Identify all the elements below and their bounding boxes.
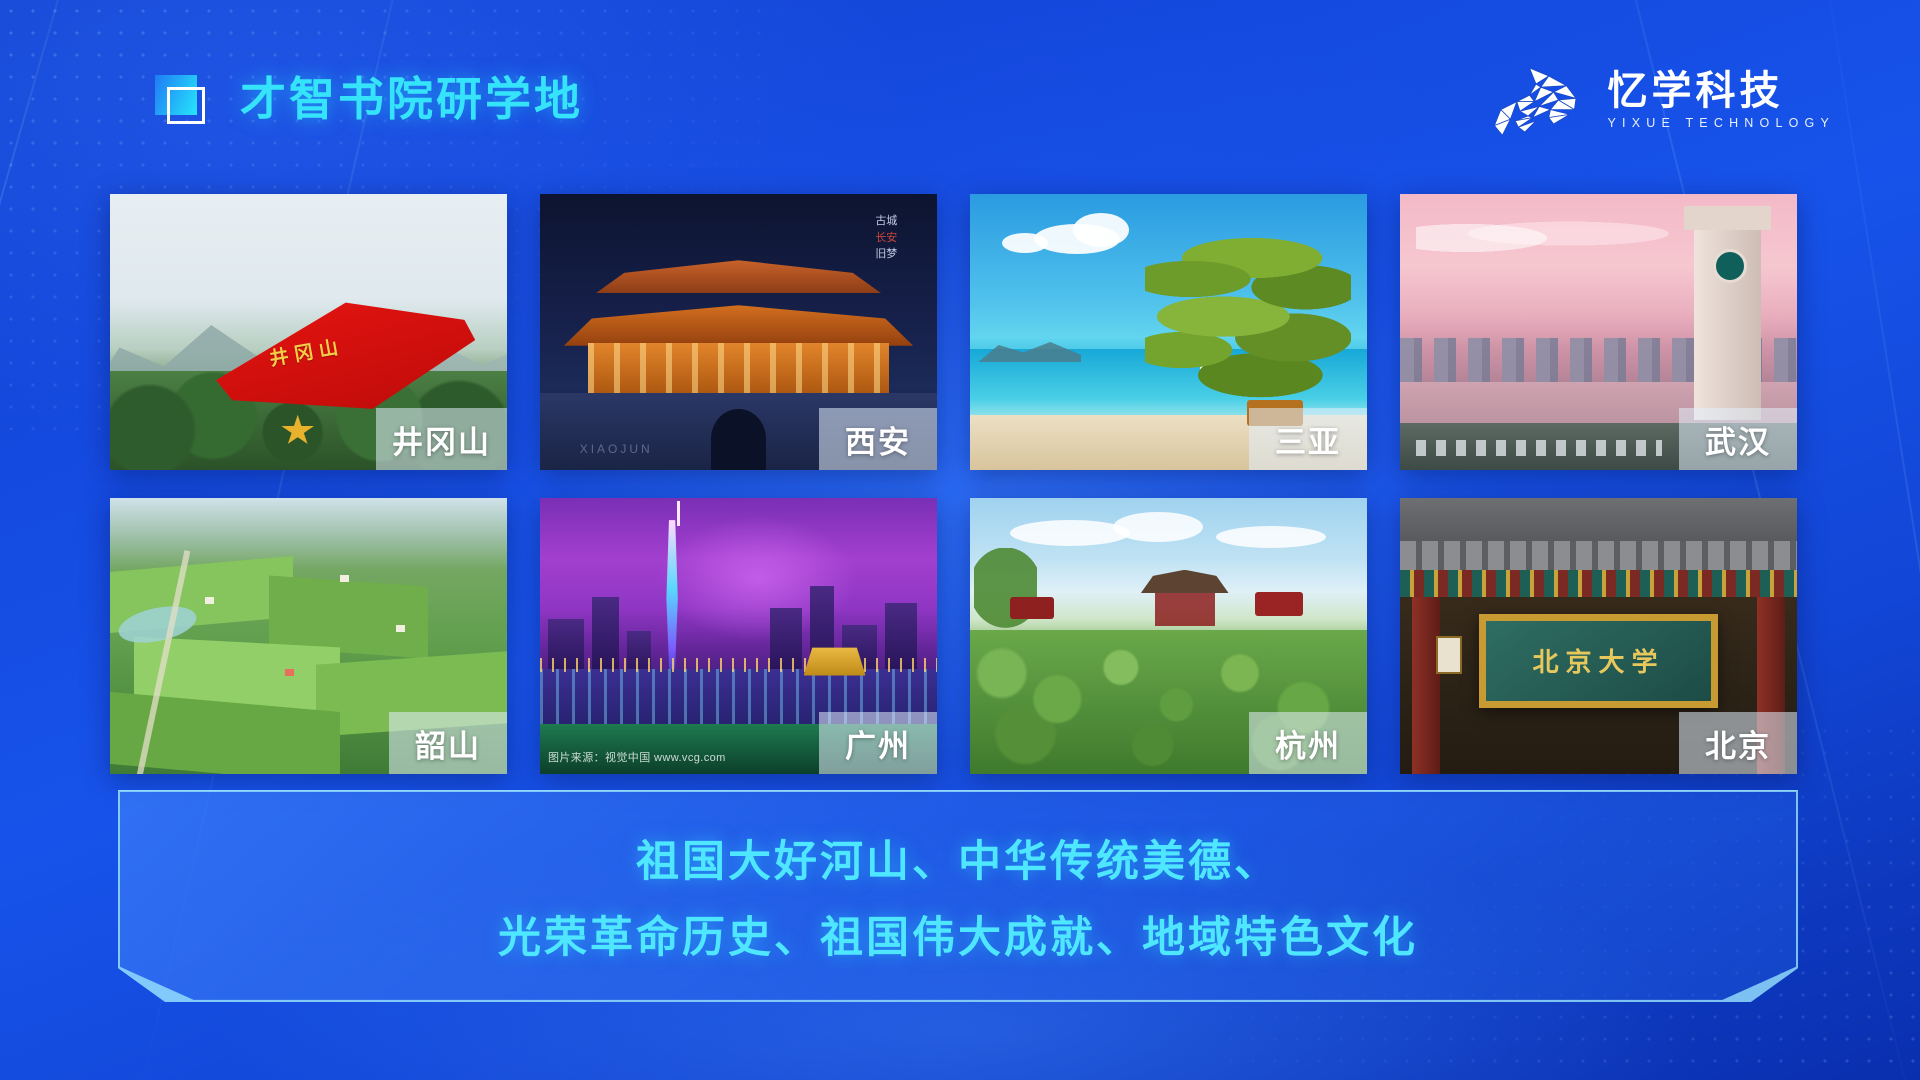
card-label: 井冈山: [376, 408, 507, 470]
destination-card[interactable]: 杭州: [970, 498, 1367, 774]
photo-watermark: XIAOJUN: [580, 442, 653, 456]
destination-card[interactable]: 三亚: [970, 194, 1367, 470]
card-label-text: 韶山: [415, 721, 481, 766]
card-label-text: 杭州: [1275, 721, 1341, 766]
destination-card[interactable]: 井冈山 井冈山: [110, 194, 507, 470]
destination-card[interactable]: 图片来源：视觉中国 www.vcg.com 广州: [540, 498, 937, 774]
destination-card[interactable]: 韶山: [110, 498, 507, 774]
card-label: 武汉: [1679, 408, 1797, 470]
card-label: 杭州: [1249, 712, 1367, 774]
card-label: 西安: [819, 408, 937, 470]
card-label-text: 北京: [1705, 721, 1771, 766]
card-label: 韶山: [389, 712, 507, 774]
destination-card[interactable]: 武汉: [1400, 194, 1797, 470]
card-label-text: 三亚: [1275, 417, 1341, 462]
summary-banner-text: 祖国大好河山、中华传统美德、 光荣革命历史、祖国伟大成就、地域特色文化: [118, 790, 1798, 1002]
card-label-text: 井冈山: [392, 417, 491, 462]
card-label: 北京: [1679, 712, 1797, 774]
destination-card[interactable]: 北京大学 北京: [1400, 498, 1797, 774]
banner-line-2: 光荣革命历史、祖国伟大成就、地域特色文化: [498, 903, 1418, 965]
photo-source-watermark: 图片来源：视觉中国 www.vcg.com: [548, 749, 726, 765]
banner-line-1: 祖国大好河山、中华传统美德、: [636, 827, 1280, 889]
card-label-text: 武汉: [1705, 417, 1771, 462]
card-label: 广州: [819, 712, 937, 774]
destination-card[interactable]: 古城长安旧梦 XIAOJUN 西安: [540, 194, 937, 470]
card-label-text: 广州: [845, 721, 911, 766]
card-label-text: 西安: [845, 417, 911, 462]
card-label: 三亚: [1249, 408, 1367, 470]
plaque-text: 北京大学: [1486, 621, 1710, 701]
